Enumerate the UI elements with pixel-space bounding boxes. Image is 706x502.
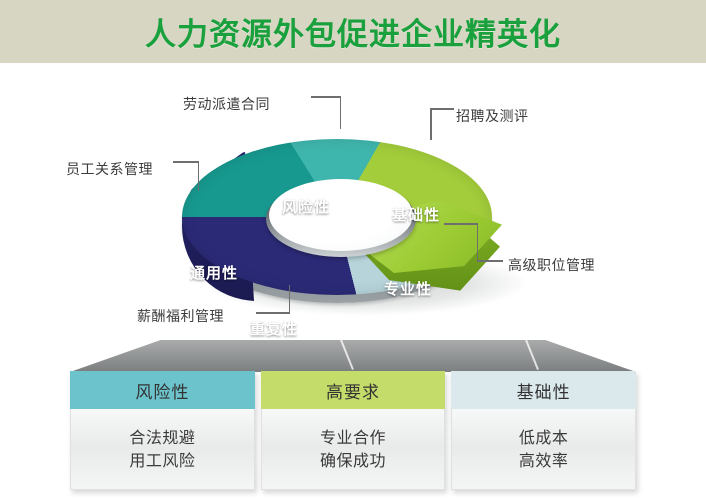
table-column-foundation[interactable]: 基础性 低成本 高效率 [451,371,636,490]
donut-chart [170,103,510,323]
callout-connector-compensation [256,285,292,314]
table-header-high-requirement: 高要求 [261,371,446,409]
table-cell-line: 低成本 [519,426,569,449]
callout-connector-employee-relations [173,161,201,191]
segment-label-risk: 风险性 [282,196,330,217]
table-header-risk: 风险性 [70,371,255,409]
page-title: 人力资源外包促进企业精英化 [0,0,706,63]
callout-recruitment-assessment: 招聘及测评 [456,106,529,126]
callout-senior-position-mgmt: 高级职位管理 [508,255,595,275]
segment-label-foundation: 基础性 [392,204,440,225]
callout-employee-relations: 员工关系管理 [66,159,153,179]
table-cell-line: 确保成功 [320,449,386,472]
diagram-stage: 风险性 基础性 专业性 重复性 通用性 劳动派遣合同 招聘及测评 员工关系管理 … [0,63,706,338]
callout-connector-senior-position [444,223,504,263]
title-banner: 人力资源外包促进企业精英化 [0,0,706,63]
table-cell-line: 合法规避 [129,426,195,449]
segment-label-repetitive: 重复性 [250,318,298,339]
callout-labor-dispatch-contract: 劳动派遣合同 [183,94,270,114]
table-cell-line: 用工风险 [129,449,195,472]
segment-label-professional: 专业性 [384,278,432,299]
slide-canvas: 人力资源外包促进企业精英化 风险性 基础性 专业性 重复性 通用性 劳动派遣合同… [0,0,706,502]
callout-compensation-benefits: 薪酬福利管理 [137,306,224,326]
summary-table: 风险性 合法规避 用工风险 高要求 专业合作 确保成功 基础性 低成本 高效率 [0,338,706,502]
table-3d-lid [70,340,636,372]
callout-connector-labor-dispatch [311,96,343,129]
table-cell-line: 高效率 [519,449,569,472]
table-column-risk[interactable]: 风险性 合法规避 用工风险 [70,371,255,490]
table-body-risk: 合法规避 用工风险 [70,409,255,490]
table-column-high-requirement[interactable]: 高要求 专业合作 确保成功 [261,371,446,490]
table-columns: 风险性 合法规避 用工风险 高要求 专业合作 确保成功 基础性 低成本 高效率 [70,371,636,490]
table-header-foundation: 基础性 [451,371,636,409]
table-body-foundation: 低成本 高效率 [451,409,636,490]
segment-label-general: 通用性 [190,262,238,283]
callout-connector-recruitment [428,108,454,140]
table-cell-line: 专业合作 [320,426,386,449]
table-body-high-requirement: 专业合作 确保成功 [261,409,446,490]
